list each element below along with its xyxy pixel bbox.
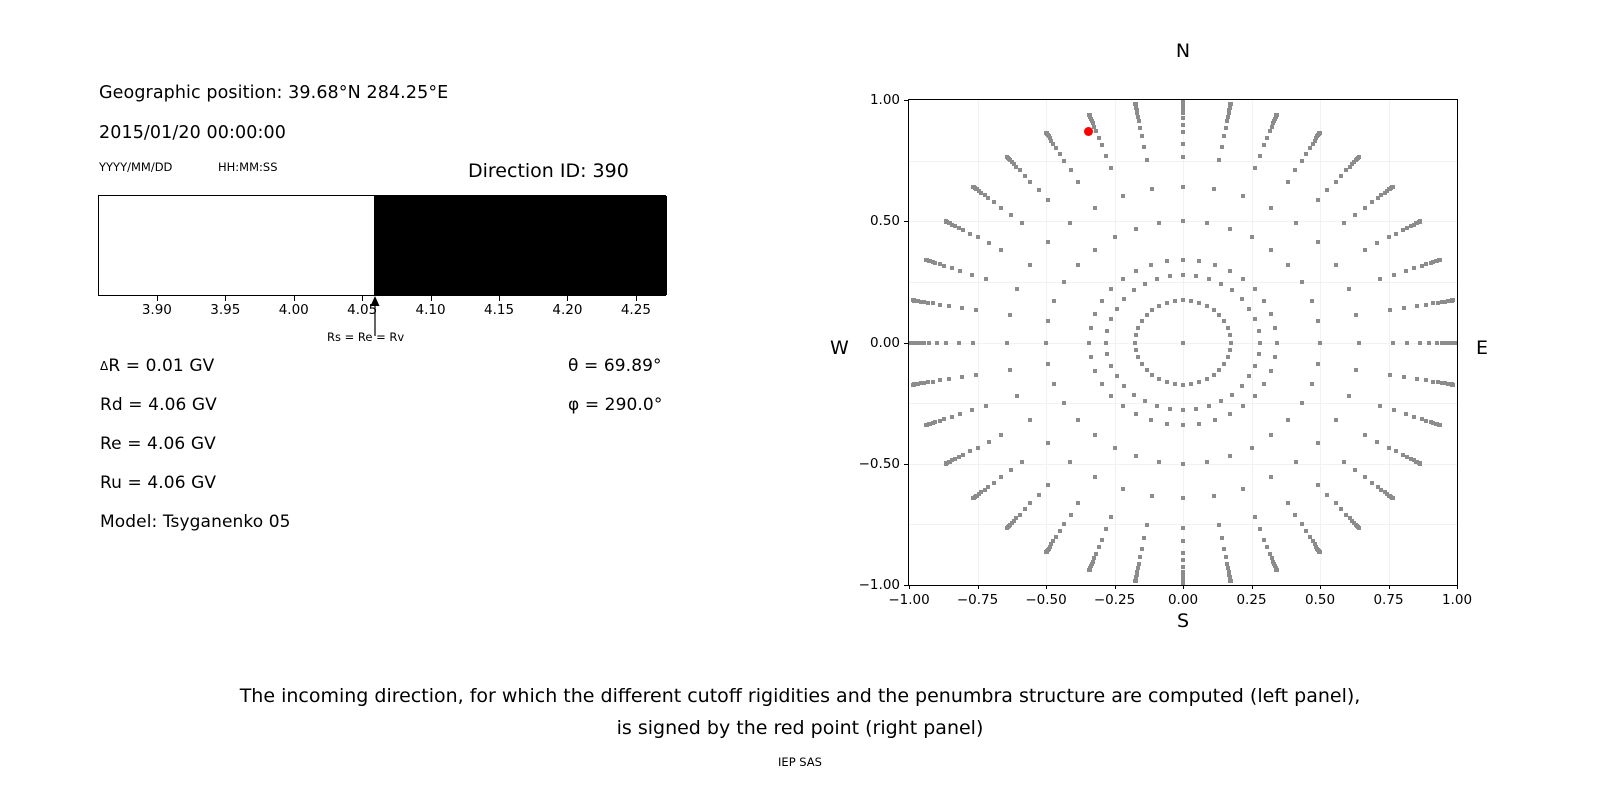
scatter-point <box>1104 527 1108 531</box>
scatter-point <box>1197 380 1201 384</box>
scatter-point <box>957 226 961 230</box>
scatter-point <box>1181 558 1185 562</box>
time-format-hint: HH:MM:SS <box>218 160 278 174</box>
x-axis-tick-label: 0.50 <box>1305 592 1335 608</box>
scatter-point <box>1122 384 1126 388</box>
scatter-point <box>1265 136 1269 140</box>
scatter-point <box>1451 298 1455 302</box>
scatter-point <box>1145 523 1149 527</box>
scatter-point <box>1316 240 1320 244</box>
scatter-point <box>1181 539 1185 543</box>
scatter-point <box>1316 198 1320 202</box>
scatter-point <box>1257 352 1261 356</box>
scatter-point <box>1015 287 1019 291</box>
compass-north-label: N <box>1176 40 1190 62</box>
scatter-point <box>1334 501 1338 505</box>
scatter-point <box>1020 460 1024 464</box>
scatter-point <box>922 341 926 345</box>
model-value: Model: Tsyganenko 05 <box>100 512 291 532</box>
rs-equals-label: Rs = Re = Rv <box>327 330 404 344</box>
scatter-point <box>1268 129 1272 133</box>
y-axis-tick <box>904 100 908 101</box>
scatter-point <box>1217 313 1221 317</box>
scatter-point <box>1181 142 1185 146</box>
scatter-point <box>1205 221 1209 225</box>
scatter-point <box>971 185 975 189</box>
scatter-point <box>1286 180 1290 184</box>
scatter-point <box>1052 299 1056 303</box>
scatter-point <box>1181 526 1185 530</box>
scatter-point <box>1028 418 1032 422</box>
scatter-point <box>1304 152 1308 156</box>
scatter-point <box>1415 304 1419 308</box>
scatter-point <box>1387 235 1391 239</box>
scatter-point <box>1093 206 1097 210</box>
scatter-point <box>1253 317 1257 321</box>
scatter-point <box>1205 460 1209 464</box>
scatter-point <box>984 277 988 281</box>
scatter-point <box>1262 299 1266 303</box>
scatter-point <box>1375 241 1379 245</box>
scatter-point <box>1293 513 1297 517</box>
scatter-point <box>1140 319 1144 323</box>
scatter-point <box>1228 227 1232 231</box>
scatter-point <box>1109 515 1113 519</box>
scatter-point <box>1357 155 1361 159</box>
scatter-point <box>1431 301 1435 305</box>
scatter-point <box>1138 126 1142 130</box>
x-axis-tick-label: 1.00 <box>1442 592 1472 608</box>
scatter-point <box>1339 507 1343 511</box>
scatter-point <box>1181 298 1185 302</box>
compass-south-label: S <box>1177 610 1189 632</box>
scatter-point <box>1113 235 1117 239</box>
scatter-point <box>1100 538 1104 542</box>
scatter-point <box>1334 418 1338 422</box>
scatter-point <box>944 462 948 466</box>
scatter-point <box>1189 299 1193 303</box>
scatter-point <box>1275 568 1279 572</box>
scatter-point <box>1354 368 1358 372</box>
scatter-point <box>1069 513 1073 517</box>
scatter-point <box>1100 299 1104 303</box>
scatter-point <box>1181 219 1185 223</box>
scatter-point <box>1253 287 1257 291</box>
scatter-point <box>1168 407 1172 411</box>
scatter-point <box>1300 159 1304 163</box>
y-axis-tick <box>904 585 908 586</box>
scatter-point <box>1217 523 1221 527</box>
scatter-point <box>1451 383 1455 387</box>
scatter-point <box>1300 280 1304 284</box>
scatter-point <box>1213 418 1217 422</box>
scatter-point <box>1094 129 1098 133</box>
scatter-point <box>1354 313 1358 317</box>
scatter-point <box>1205 304 1209 308</box>
scatter-point <box>961 453 965 457</box>
scatter-point <box>1404 269 1408 273</box>
scatter-point <box>1228 454 1232 458</box>
scatter-point <box>1212 187 1216 191</box>
penumbra-tick <box>567 296 568 301</box>
scatter-point <box>1089 355 1093 359</box>
scatter-point <box>1157 221 1161 225</box>
scatter-point <box>1136 355 1140 359</box>
scatter-point <box>1225 119 1229 123</box>
datetime-text: 2015/01/20 00:00:00 <box>99 123 286 143</box>
scatter-point <box>938 262 942 266</box>
scatter-point <box>1155 404 1159 408</box>
scatter-point <box>1342 221 1346 225</box>
scatter-point <box>1392 273 1396 277</box>
scatter-plot-area <box>908 99 1458 586</box>
x-axis-tick <box>1115 585 1116 589</box>
scatter-point <box>1100 382 1104 386</box>
scatter-point <box>1241 277 1245 281</box>
scatter-point <box>1424 303 1428 307</box>
scatter-point <box>1145 158 1149 162</box>
penumbra-tick-label: 4.25 <box>621 302 651 318</box>
scatter-point <box>1308 146 1312 150</box>
scatter-point <box>1229 579 1233 583</box>
scatter-point <box>1402 306 1406 310</box>
scatter-point <box>938 419 942 423</box>
scatter-point <box>1334 263 1338 267</box>
re-value: Re = 4.06 GV <box>100 434 216 454</box>
scatter-point <box>1394 232 1398 236</box>
scatter-point <box>1212 308 1216 312</box>
scatter-point <box>1044 550 1048 554</box>
scatter-point <box>1046 362 1050 366</box>
scatter-point <box>1044 341 1048 345</box>
scatter-point <box>1046 198 1050 202</box>
scatter-point <box>1145 313 1149 317</box>
scatter-point <box>950 266 954 270</box>
scatter-point <box>1224 555 1228 559</box>
scatter-point <box>1194 274 1198 278</box>
scatter-point <box>1121 404 1125 408</box>
scatter-point <box>1226 355 1230 359</box>
scatter-point <box>1062 159 1066 163</box>
scatter-point <box>924 423 928 427</box>
scatter-point <box>1132 393 1136 397</box>
scatter-point <box>1087 568 1091 572</box>
scatter-point <box>1157 304 1161 308</box>
y-axis-tick-label: 1.00 <box>846 92 900 108</box>
scatter-point <box>1455 341 1458 345</box>
scatter-point <box>1286 263 1290 267</box>
scatter-point <box>1269 248 1273 252</box>
scatter-point <box>1344 168 1348 172</box>
geographic-position-text: Geographic position: 39.68°N 284.25°E <box>99 83 448 103</box>
scatter-point <box>1253 364 1257 368</box>
scatter-point <box>1418 341 1422 345</box>
scatter-point <box>1140 547 1144 551</box>
scatter-point <box>1212 373 1216 377</box>
scatter-point <box>992 200 996 204</box>
scatter-point <box>1357 341 1361 345</box>
scatter-point <box>1189 382 1193 386</box>
scatter-point <box>1068 221 1072 225</box>
penumbra-tick-label: 3.95 <box>210 302 240 318</box>
scatter-point <box>1363 248 1367 252</box>
y-axis-tick <box>904 221 908 222</box>
scatter-point <box>1104 154 1108 158</box>
scatter-point <box>1133 579 1137 583</box>
scatter-point <box>1005 341 1009 345</box>
scatter-point <box>1028 501 1032 505</box>
scatter-point <box>908 341 911 345</box>
scatter-point <box>1181 408 1185 412</box>
scatter-point <box>1222 547 1226 551</box>
scatter-point <box>1262 538 1266 542</box>
scatter-point <box>1104 341 1108 345</box>
scatter-point <box>1300 522 1304 526</box>
scatter-point <box>1157 460 1161 464</box>
scatter-point <box>947 304 951 308</box>
scatter-point <box>1142 536 1146 540</box>
scatter-point <box>1194 407 1198 411</box>
scatter-point <box>1076 263 1080 267</box>
scatter-point <box>1325 188 1329 192</box>
scatter-point <box>1431 380 1435 384</box>
scatter-point <box>1140 134 1144 138</box>
selected-direction-point[interactable] <box>1084 127 1093 136</box>
scatter-point <box>1342 460 1346 464</box>
scatter-point <box>1293 168 1297 172</box>
scatter-point <box>1247 374 1251 378</box>
caption-line-1: The incoming direction, for which the di… <box>0 680 1600 712</box>
scatter-point <box>1224 126 1228 130</box>
scatter-point <box>1388 373 1392 377</box>
scatter-point <box>1391 341 1395 345</box>
x-axis-tick <box>1320 585 1321 589</box>
scatter-point <box>1318 341 1322 345</box>
scatter-point <box>1005 526 1009 530</box>
scatter-point <box>1435 341 1439 345</box>
scatter-point <box>942 417 946 421</box>
scatter-point <box>931 301 935 305</box>
scatter-point <box>1134 333 1138 337</box>
scatter-point <box>1046 319 1050 323</box>
footer-credit: IEP SAS <box>0 755 1600 769</box>
scatter-point <box>1181 116 1185 120</box>
scatter-point <box>968 232 972 236</box>
scatter-point <box>1217 158 1221 162</box>
scatter-point <box>1420 417 1424 421</box>
scatter-point <box>1250 446 1254 450</box>
scatter-point <box>986 485 990 489</box>
x-axis-tick <box>1252 585 1253 589</box>
scatter-point <box>1269 312 1273 316</box>
scatter-point <box>1262 143 1266 147</box>
scatter-point <box>1181 383 1185 387</box>
scatter-point <box>1181 462 1185 466</box>
scatter-point <box>947 377 951 381</box>
scatter-point <box>1046 240 1050 244</box>
penumbra-bar <box>98 195 666 296</box>
y-axis-tick-label: −0.50 <box>846 456 900 472</box>
scatter-point <box>999 433 1003 437</box>
y-axis-tick-label: 0.00 <box>846 335 900 351</box>
scatter-point <box>1269 475 1273 479</box>
scatter-point <box>1023 174 1027 178</box>
penumbra-tick-label: 4.20 <box>552 302 582 318</box>
scatter-point <box>1378 404 1382 408</box>
scatter-point <box>1009 468 1013 472</box>
scatter-point <box>1138 555 1142 559</box>
scatter-point <box>1097 545 1101 549</box>
scatter-point <box>931 380 935 384</box>
scatter-point <box>1181 423 1185 427</box>
scatter-point <box>1269 433 1273 437</box>
scatter-point <box>1241 194 1245 198</box>
scatter-point <box>960 306 964 310</box>
scatter-point <box>1387 446 1391 450</box>
scatter-point <box>974 373 978 377</box>
scatter-point <box>1046 441 1050 445</box>
scatter-point <box>1418 462 1422 466</box>
scatter-point <box>1113 446 1117 450</box>
penumbra-tick <box>294 296 295 301</box>
penumbra-tick-label: 4.10 <box>416 302 446 318</box>
x-axis-tick <box>909 585 910 589</box>
scatter-point <box>987 440 991 444</box>
scatter-point <box>1241 404 1245 408</box>
scatter-point <box>1275 113 1279 117</box>
scatter-point <box>1037 493 1041 497</box>
scatter-point <box>1310 299 1314 303</box>
scatter-point <box>976 235 980 239</box>
scatter-point <box>1275 341 1279 345</box>
direction-sky-plot: N S W E −1.00−0.75−0.50−0.250.000.250.50… <box>840 40 1540 660</box>
penumbra-tick-label: 4.15 <box>484 302 514 318</box>
scatter-point <box>1197 301 1201 305</box>
scatter-point <box>1121 194 1125 198</box>
scatter-point <box>1092 125 1096 129</box>
scatter-point <box>911 298 915 302</box>
scatter-point <box>1136 115 1140 119</box>
scatter-point <box>1229 102 1233 106</box>
x-axis-tick <box>1183 585 1184 589</box>
scatter-point <box>1269 369 1273 373</box>
scatter-point <box>924 258 928 262</box>
scatter-point <box>1420 264 1424 268</box>
scatter-point <box>1150 308 1154 312</box>
scatter-point <box>1165 301 1169 305</box>
scatter-point <box>1418 219 1422 223</box>
penumbra-tick-label: 3.90 <box>142 302 172 318</box>
scatter-point <box>1316 483 1320 487</box>
scatter-point <box>961 228 965 232</box>
scatter-point <box>1087 341 1091 345</box>
scatter-point <box>1405 341 1409 345</box>
scatter-point <box>1173 382 1177 386</box>
x-axis-tick-label: 0.75 <box>1373 592 1403 608</box>
scatter-point <box>1121 277 1125 281</box>
scatter-point <box>1145 368 1149 372</box>
figure-caption: The incoming direction, for which the di… <box>0 680 1600 744</box>
scatter-point <box>1375 440 1379 444</box>
scatter-point <box>1062 401 1066 405</box>
scatter-point <box>999 475 1003 479</box>
ru-value: Ru = 4.06 GV <box>100 473 216 493</box>
scatter-point <box>1310 382 1314 386</box>
scatter-point <box>1318 131 1322 135</box>
delta-r-value: ΔR = 0.01 GV <box>100 356 214 376</box>
scatter-point <box>1219 399 1223 403</box>
scatter-point <box>944 341 948 345</box>
scatter-point <box>1149 263 1153 267</box>
scatter-point <box>1093 433 1097 437</box>
x-axis-tick-label: −0.50 <box>1025 592 1066 608</box>
scatter-point <box>1222 319 1226 323</box>
scatter-point <box>1253 515 1257 519</box>
scatter-point <box>1097 136 1101 140</box>
date-format-hint: YYYY/MM/DD <box>99 160 172 174</box>
scatter-point <box>1134 454 1138 458</box>
scatter-point <box>1207 277 1211 281</box>
direction-id-label: Direction ID: 390 <box>468 160 629 182</box>
scatter-point <box>1109 166 1113 170</box>
scatter-point <box>1270 125 1274 129</box>
scatter-point <box>1018 168 1022 172</box>
scatter-point <box>1136 326 1140 330</box>
scatter-point <box>1109 287 1113 291</box>
scatter-point <box>1222 362 1226 366</box>
scatter-point <box>1265 545 1269 549</box>
y-axis-tick <box>904 464 908 465</box>
scatter-point <box>1273 355 1277 359</box>
scatter-point <box>927 341 931 345</box>
scatter-point <box>1388 308 1392 312</box>
scatter-point <box>1069 168 1073 172</box>
scatter-point <box>1286 418 1290 422</box>
scatter-point <box>1220 145 1224 149</box>
y-axis-tick-label: −1.00 <box>846 577 900 593</box>
scatter-point <box>1427 341 1431 345</box>
scatter-point <box>1228 333 1232 337</box>
scatter-point <box>1068 460 1072 464</box>
scatter-point <box>1363 433 1367 437</box>
scatter-point <box>1197 259 1201 263</box>
scatter-point <box>1168 274 1172 278</box>
scatter-point <box>1424 378 1428 382</box>
scatter-point <box>1076 418 1080 422</box>
scatter-point <box>1294 460 1298 464</box>
penumbra-tick <box>431 296 432 301</box>
delta-r-text: R = 0.01 GV <box>108 356 214 376</box>
scatter-point <box>1391 496 1395 500</box>
scatter-point <box>1257 329 1261 333</box>
penumbra-tick <box>499 296 500 301</box>
scatter-point <box>1133 102 1137 106</box>
scatter-point <box>1020 221 1024 225</box>
gridline-horizontal <box>909 282 1457 283</box>
scatter-point <box>950 415 954 419</box>
scatter-point <box>1181 496 1185 500</box>
scatter-point <box>1217 368 1221 372</box>
scatter-point <box>1438 258 1442 262</box>
scatter-point <box>1230 288 1234 292</box>
scatter-point <box>926 301 930 305</box>
scatter-point <box>992 481 996 485</box>
scatter-point <box>1076 501 1080 505</box>
x-axis-tick-label: −1.00 <box>888 592 929 608</box>
scatter-point <box>1100 143 1104 147</box>
scatter-point <box>1109 364 1113 368</box>
scatter-point <box>1165 380 1169 384</box>
